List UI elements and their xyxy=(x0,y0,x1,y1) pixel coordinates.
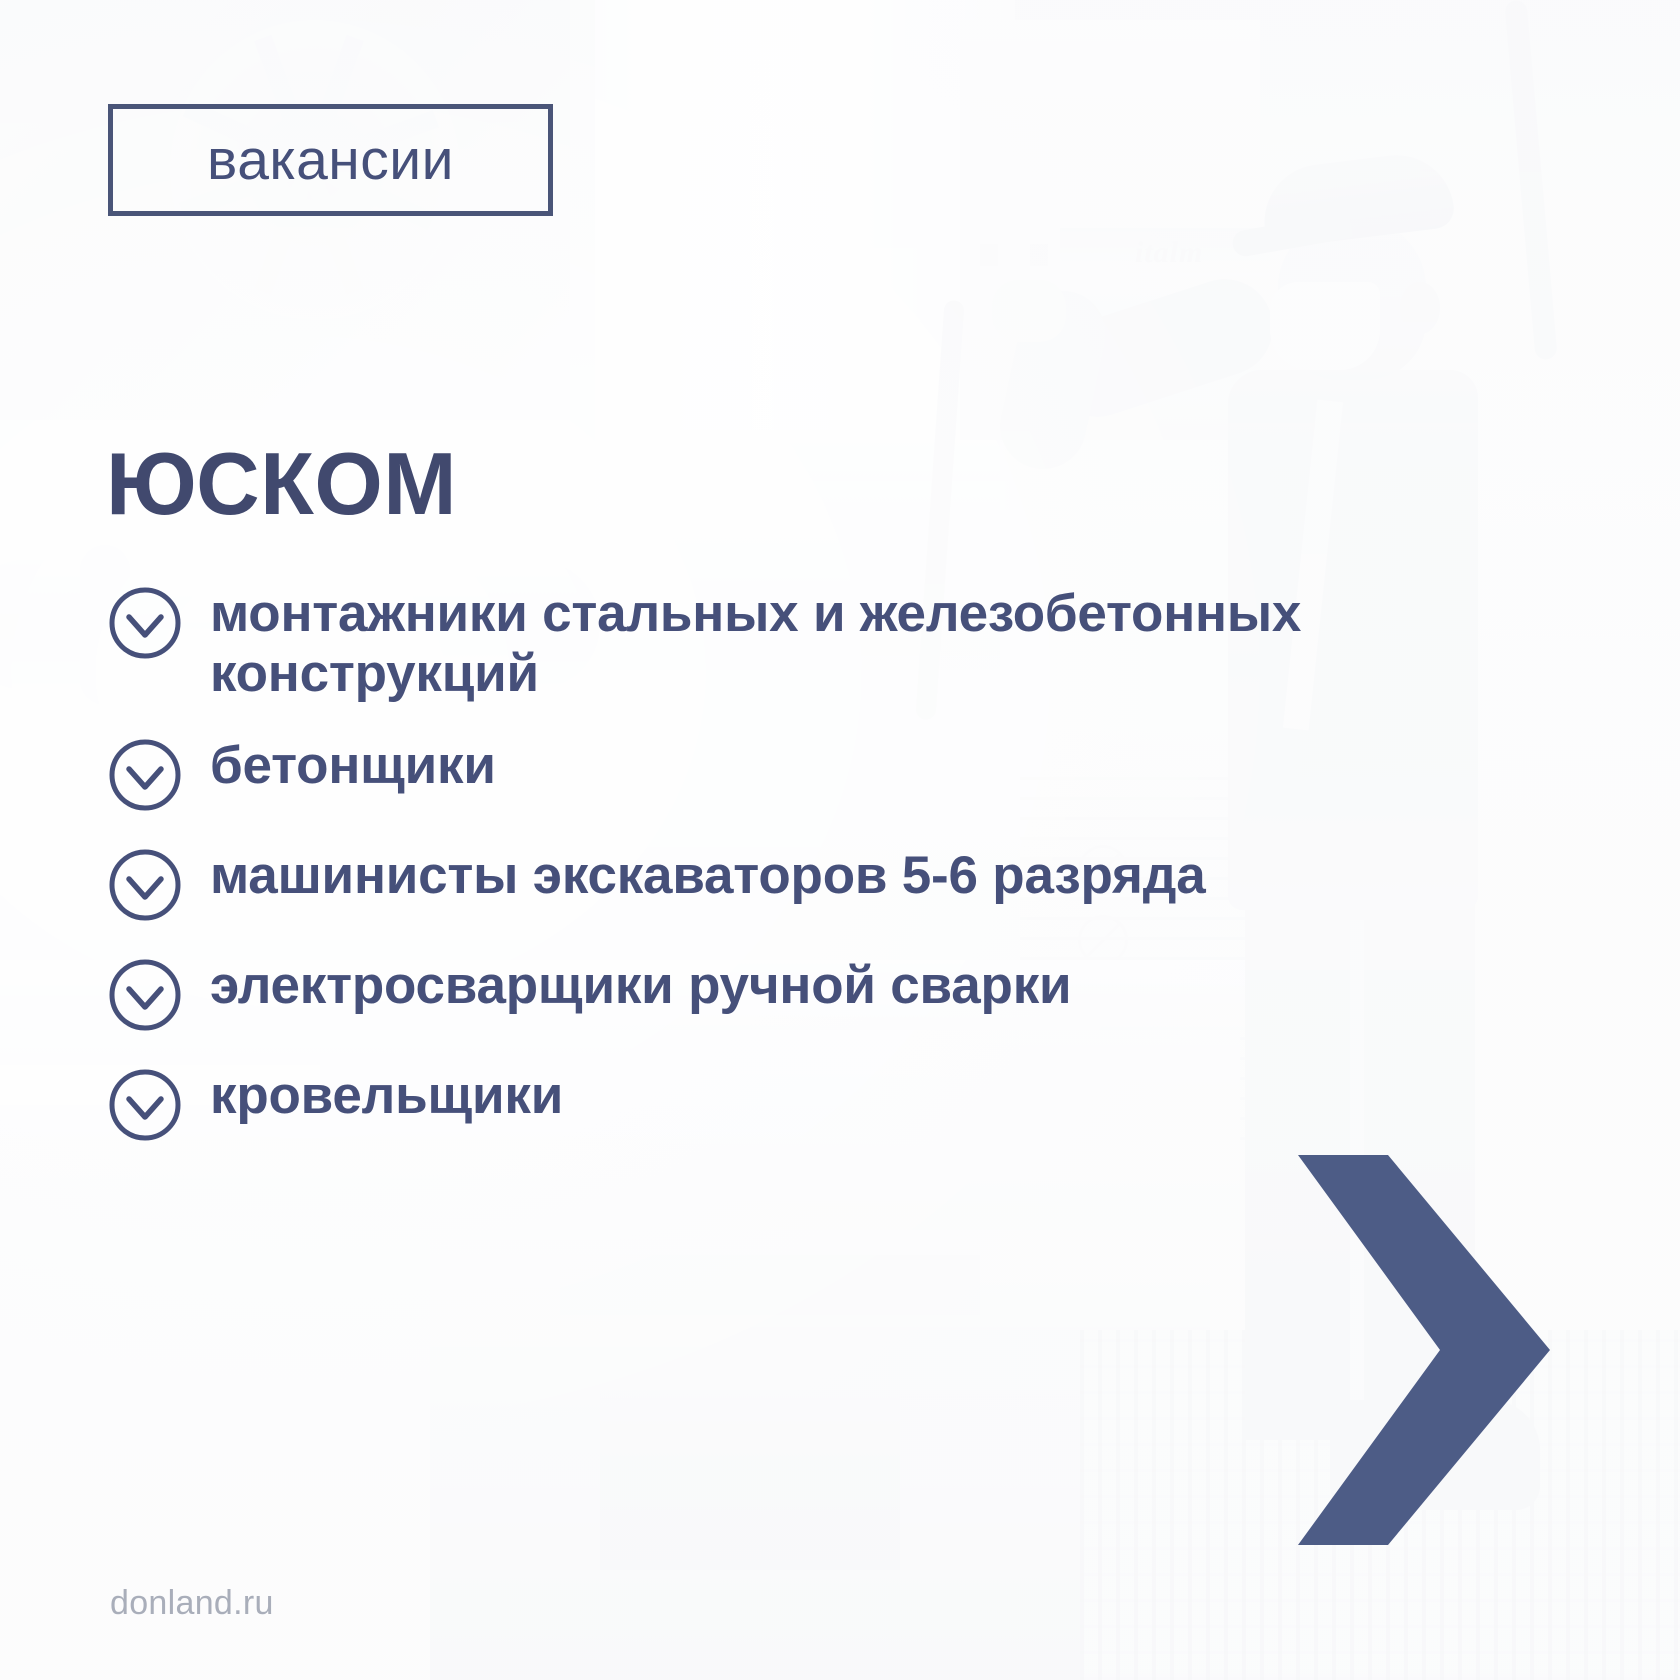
list-item: электросварщики ручной сварки xyxy=(106,954,1306,1034)
vacancy-label: монтажники стальных и железобетонных кон… xyxy=(210,582,1306,704)
list-item: машинисты экскаваторов 5-6 разряда xyxy=(106,844,1306,924)
list-item: бетонщики xyxy=(106,734,1306,814)
vacancy-badge: вакансии xyxy=(108,104,553,216)
footer-site-url: donland.ru xyxy=(110,1584,274,1623)
check-circle-icon xyxy=(106,846,184,924)
list-item: кровельщики xyxy=(106,1064,1306,1144)
check-circle-icon xyxy=(106,956,184,1034)
vacancy-label: бетонщики xyxy=(210,734,496,796)
vacancy-poster: italm вакансии ЮСКОМ xyxy=(0,0,1680,1680)
check-circle-icon xyxy=(106,1066,184,1144)
vacancy-label: электросварщики ручной сварки xyxy=(210,954,1071,1016)
vacancy-label: кровельщики xyxy=(210,1064,563,1126)
vacancy-badge-label: вакансии xyxy=(207,132,454,189)
check-circle-icon xyxy=(106,736,184,814)
vacancy-list: монтажники стальных и железобетонных кон… xyxy=(106,582,1306,1174)
list-item: монтажники стальных и железобетонных кон… xyxy=(106,582,1306,704)
check-circle-icon xyxy=(106,584,184,662)
organization-title: ЮСКОМ xyxy=(106,440,457,528)
chevron-right-icon[interactable] xyxy=(1280,1155,1550,1545)
poster-content: вакансии ЮСКОМ монтажники стальных и жел… xyxy=(0,0,1680,1680)
vacancy-label: машинисты экскаваторов 5-6 разряда xyxy=(210,844,1205,906)
